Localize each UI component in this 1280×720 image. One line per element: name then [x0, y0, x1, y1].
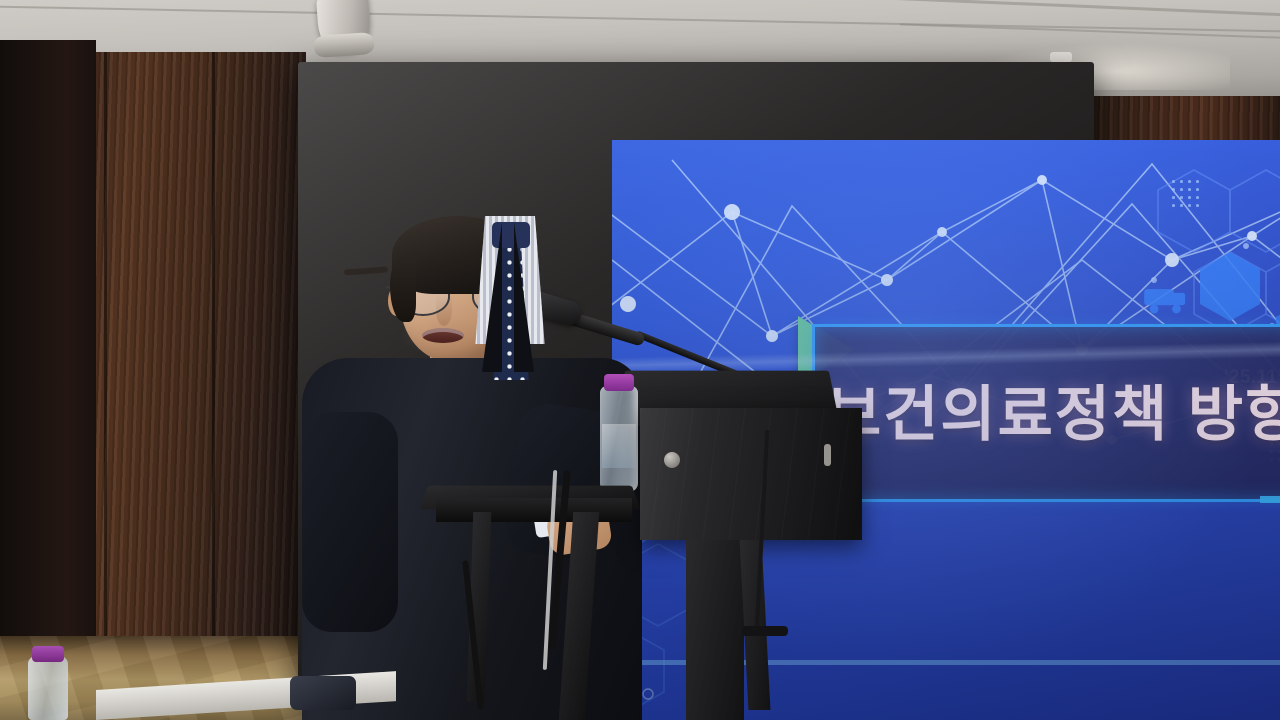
- arm-left: [302, 412, 398, 632]
- podium-leg-center: [686, 540, 744, 720]
- podium-front-panel: [640, 408, 862, 540]
- podium-knob: [664, 452, 680, 468]
- ceiling-light: [1050, 52, 1072, 62]
- lapel-right: [514, 222, 568, 372]
- podium-texture: [640, 408, 862, 540]
- water-bottle-cap: [604, 374, 634, 391]
- water-bottle-label: [602, 424, 636, 468]
- hair-left: [390, 256, 416, 322]
- left-dark-panel: [0, 40, 96, 720]
- wall-seam: [212, 52, 215, 720]
- projector-head: [313, 32, 374, 58]
- wall-seam: [104, 52, 107, 720]
- podium-shelf-lower: [436, 498, 632, 522]
- water-bottle-foreground-cap: [32, 646, 64, 662]
- mic-stand-base: [742, 626, 788, 636]
- photo-scene: '25.11월 기준 보건의료정책 방향: [0, 0, 1280, 720]
- lapel-left: [448, 222, 502, 372]
- eyebrow-left: [344, 266, 388, 275]
- table-object: [290, 676, 356, 710]
- podium-slot: [824, 444, 831, 466]
- water-bottle-foreground: [28, 656, 68, 720]
